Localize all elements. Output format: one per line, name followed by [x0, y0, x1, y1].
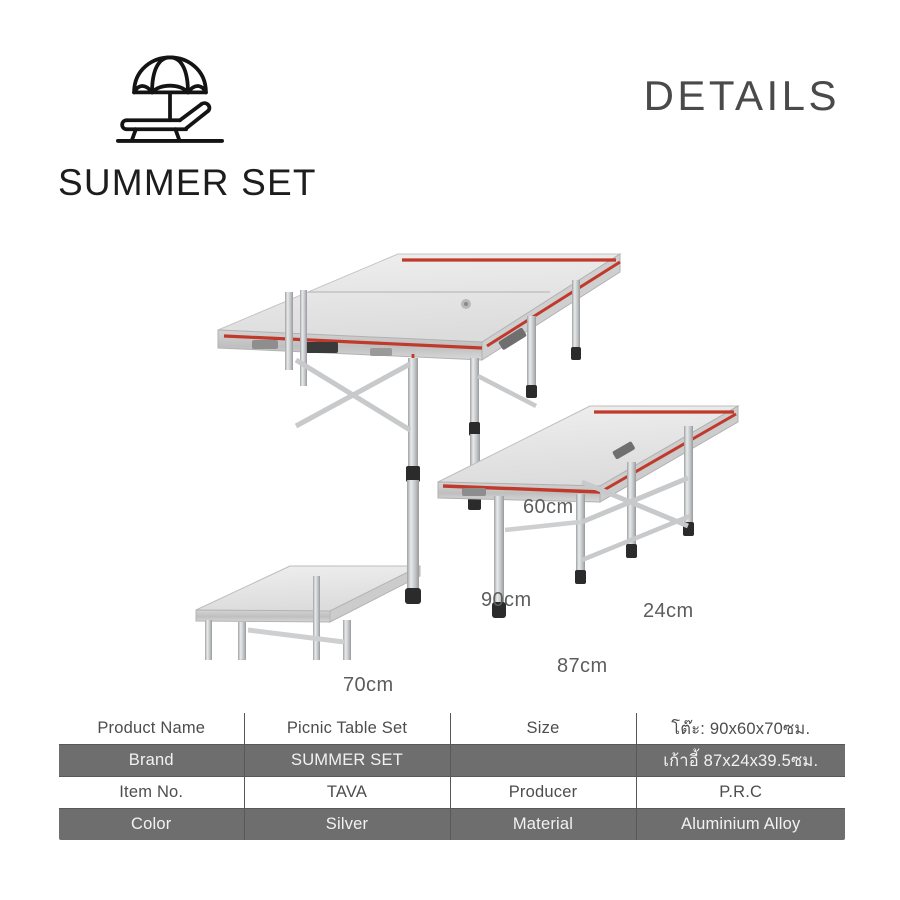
product-detail-page: SUMMER SET DETAILS [0, 0, 900, 900]
brand-wordmark: SUMMER SET [56, 164, 356, 201]
spec-value-item-no: TAVA [244, 777, 450, 809]
spec-label-color: Color [58, 809, 244, 842]
spec-value-product-name: Picnic Table Set [244, 712, 450, 745]
spec-value-size-bench: เก้าอี้ 87x24x39.5ซม. [636, 745, 846, 777]
table-row: Product Name Picnic Table Set Size โต๊ะ:… [58, 712, 846, 745]
spec-label-product-name: Product Name [58, 712, 244, 745]
spec-label-brand: Brand [58, 745, 244, 777]
spec-label-item-no: Item No. [58, 777, 244, 809]
dimension-label-table-height: 70cm [343, 674, 394, 697]
spec-value-brand: SUMMER SET [244, 745, 450, 777]
dimension-label-table-width: 90cm [481, 589, 532, 612]
specification-table: Product Name Picnic Table Set Size โต๊ะ:… [57, 711, 845, 842]
table-row: Color Silver Material Aluminium Alloy [58, 809, 846, 842]
table-row: Item No. TAVA Producer P.R.C [58, 777, 846, 809]
spec-label-size: Size [450, 712, 636, 745]
dimension-label-table-depth: 60cm [523, 496, 574, 519]
bench-left [196, 566, 420, 660]
beach-umbrella-lounger-icon [116, 52, 224, 158]
details-heading: DETAILS [644, 72, 840, 120]
spec-label-size-continued [450, 745, 636, 777]
spec-label-producer: Producer [450, 777, 636, 809]
bench-right [438, 406, 738, 618]
spec-value-producer: P.R.C [636, 777, 846, 809]
spec-value-color: Silver [244, 809, 450, 842]
spec-value-material: Aluminium Alloy [636, 809, 846, 842]
product-illustration: 60cm 90cm 70cm 24cm 87cm 39.5cm [0, 230, 900, 660]
spec-value-size-table: โต๊ะ: 90x60x70ซม. [636, 712, 846, 745]
spec-label-material: Material [450, 809, 636, 842]
picnic-table-set-drawing [0, 230, 900, 660]
dimension-label-bench-length: 87cm [557, 655, 608, 678]
dimension-label-bench-depth: 24cm [643, 600, 694, 623]
brand-logo-block: SUMMER SET [56, 52, 356, 201]
table-row: Brand SUMMER SET เก้าอี้ 87x24x39.5ซม. [58, 745, 846, 777]
